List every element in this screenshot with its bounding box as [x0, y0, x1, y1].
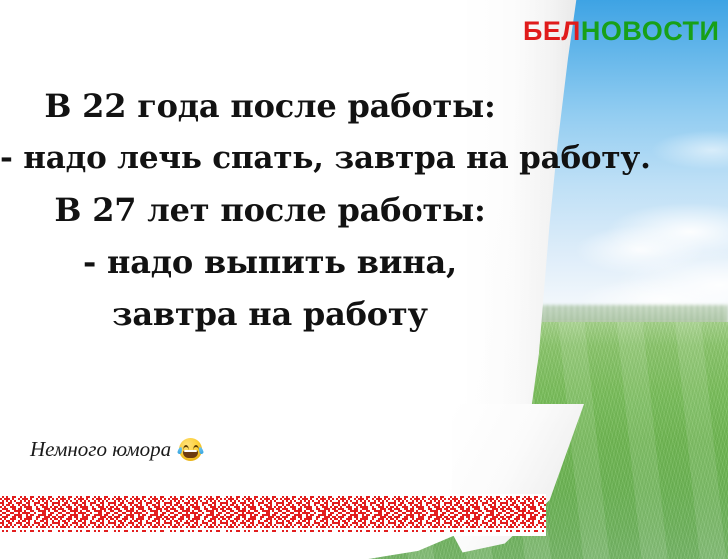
face-with-tears-of-joy-icon [179, 438, 202, 461]
logo-text-bel: БЕЛ [523, 16, 581, 46]
logo-text-novosti: НОВОСТИ [581, 16, 720, 46]
joke-line: завтра на работу [0, 288, 540, 340]
site-logo[interactable]: БЕЛНОВОСТИ [523, 18, 719, 45]
joke-line: - надо выпить вина, [0, 236, 540, 288]
signature-text: Немного юмора [30, 437, 171, 462]
joke-text-block: В 22 года после работы: - надо лечь спат… [0, 80, 540, 340]
joke-line: - надо лечь спать, завтра на работу. [0, 132, 540, 184]
joke-line: В 22 года после работы: [0, 80, 540, 132]
signature: Немного юмора [30, 437, 202, 462]
joke-line: В 27 лет после работы: [0, 184, 540, 236]
belarusian-ornament-border [0, 494, 546, 536]
ornament-pattern [0, 494, 546, 536]
emoji-teeth [184, 450, 197, 452]
poster-canvas: БЕЛНОВОСТИ В 22 года после работы: - над… [0, 0, 728, 559]
